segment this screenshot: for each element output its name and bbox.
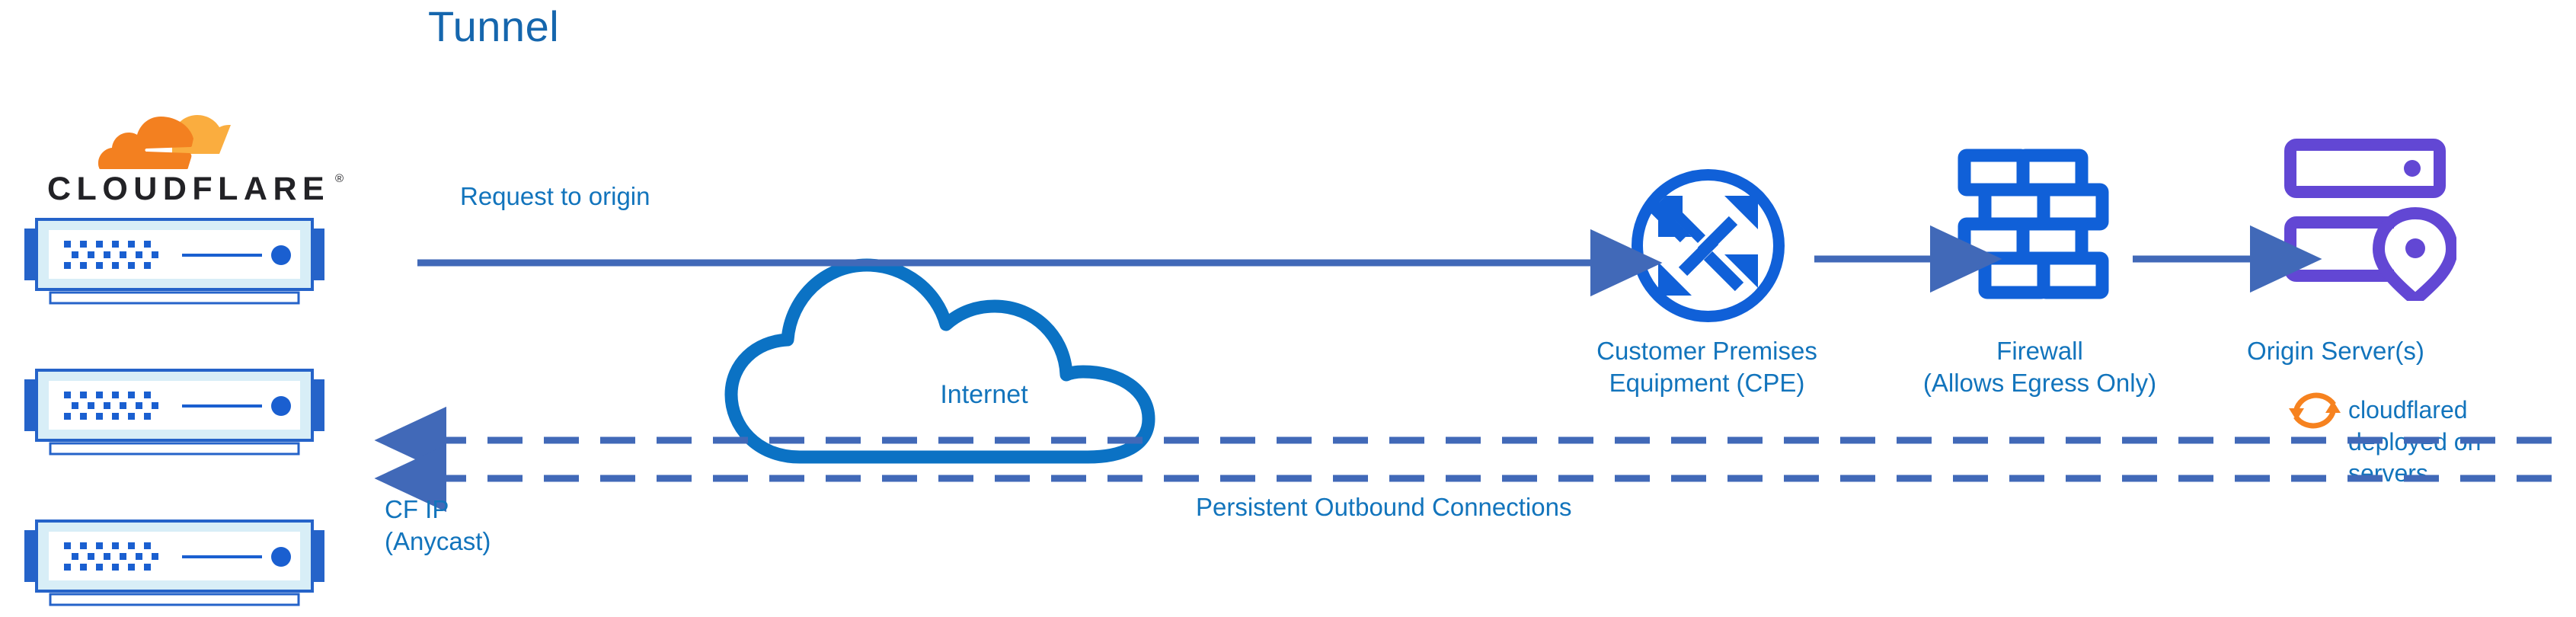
cloudflare-wordmark: CLOUDFLARE <box>47 171 330 208</box>
origin-servers-label: Origin Server(s) <box>2247 335 2567 367</box>
cf-ip-label-line-1: CF IP <box>385 494 491 526</box>
cloudflare-logo: CLOUDFLARE ® <box>23 107 343 206</box>
cloudflare-edge-server-3 <box>11 515 338 610</box>
cpe-label-line-1: Customer Premises <box>1550 335 1864 367</box>
brick-wall-icon <box>1954 145 2110 312</box>
cloudflared-note-label: cloudflared deployed on servers <box>2348 395 2523 490</box>
firewall-label: Firewall (Allows Egress Only) <box>1866 335 2213 399</box>
internet-cloud-label: Internet <box>855 379 1114 412</box>
registered-trademark-mark: ® <box>335 172 344 185</box>
request-to-origin-label: Request to origin <box>460 181 650 213</box>
cloudflare-edge-server-1 <box>11 213 338 308</box>
cloud-icon <box>708 229 1211 480</box>
sync-refresh-icon <box>2285 381 2344 440</box>
tunnel-diagram-canvas: Tunnel CLOUDFLARE ® <box>0 0 2576 617</box>
cpe-label-line-2: Equipment (CPE) <box>1550 367 1864 399</box>
firewall-icon-wrap <box>1954 145 2110 316</box>
server-rack-icon <box>11 364 338 456</box>
cloudflared-sync-icon-wrap <box>2285 381 2344 444</box>
server-with-location-pin-icon <box>2281 137 2456 301</box>
firewall-label-line-1: Firewall <box>1866 335 2213 367</box>
customer-premises-equipment-icon-wrap <box>1626 164 1790 331</box>
cf-ip-anycast-label: CF IP (Anycast) <box>385 494 491 558</box>
firewall-label-line-2: (Allows Egress Only) <box>1866 367 2213 399</box>
origin-label-line-1: Origin Server(s) <box>2247 335 2567 367</box>
cf-ip-label-line-2: (Anycast) <box>385 526 491 558</box>
customer-premises-equipment-label: Customer Premises Equipment (CPE) <box>1550 335 1864 399</box>
page-title: Tunnel <box>428 2 559 51</box>
router-four-arrows-icon <box>1626 164 1790 328</box>
server-rack-icon <box>11 213 338 305</box>
persistent-outbound-connections-label: Persistent Outbound Connections <box>1196 491 1571 523</box>
internet-cloud <box>708 229 1211 484</box>
origin-servers-icon-wrap <box>2281 137 2456 305</box>
cloudflare-edge-server-2 <box>11 364 338 459</box>
server-rack-icon <box>11 515 338 606</box>
